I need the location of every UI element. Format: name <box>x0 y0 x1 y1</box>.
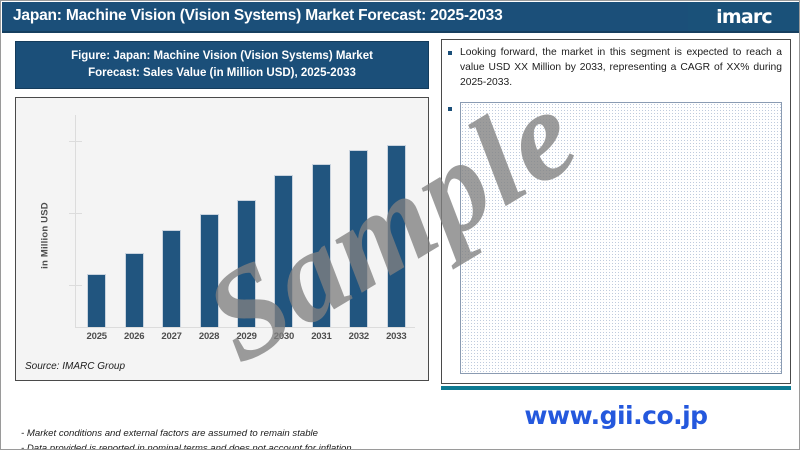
chart-card: in Million USD 2025202620272028202920302… <box>15 97 429 381</box>
y-axis-label: in Million USD <box>40 181 51 291</box>
figure-title-box: Figure: Japan: Machine Vision (Vision Sy… <box>15 41 429 89</box>
imarc-logo: imarc <box>688 2 800 31</box>
imarc-logo-text: imarc <box>716 6 772 28</box>
x-axis-label: 2028 <box>190 331 227 342</box>
bar-slot <box>190 115 227 327</box>
bar-slot <box>303 115 340 327</box>
bar <box>387 145 406 327</box>
bar <box>200 214 219 327</box>
page-title: Japan: Machine Vision (Vision Systems) M… <box>13 7 503 25</box>
bar <box>349 150 368 327</box>
figure-title: Figure: Japan: Machine Vision (Vision Sy… <box>61 48 383 81</box>
bar <box>162 230 181 327</box>
assumption-note: - Market conditions and external factors… <box>21 427 441 442</box>
bar-slot <box>78 115 115 327</box>
bar <box>125 253 144 327</box>
x-axis-label: 2033 <box>378 331 415 342</box>
bullet-square-icon <box>448 51 452 55</box>
assumption-notes: - Market conditions and external factors… <box>21 427 441 450</box>
chart-source: Source: IMARC Group <box>25 361 125 372</box>
chart-panel: Figure: Japan: Machine Vision (Vision Sy… <box>11 39 436 384</box>
insight-bullet-1: Looking forward, the market in this segm… <box>448 46 786 91</box>
x-axis-label: 2030 <box>265 331 302 342</box>
x-axis-spine <box>75 327 415 328</box>
bar <box>237 200 256 327</box>
bullet-square-icon <box>448 107 452 111</box>
insight-bullet-1-text: Looking forward, the market in this segm… <box>460 46 782 91</box>
slide-page: Japan: Machine Vision (Vision Systems) M… <box>0 0 800 450</box>
x-axis-label: 2032 <box>340 331 377 342</box>
page-header: Japan: Machine Vision (Vision Systems) M… <box>2 2 800 33</box>
assumption-note: - Data provided is reported in nominal t… <box>21 442 441 450</box>
bar-slot <box>153 115 190 327</box>
footer-divider <box>441 386 791 390</box>
bar-chart: in Million USD 2025202620272028202920302… <box>16 98 428 343</box>
bar-slot <box>265 115 302 327</box>
bar-slot <box>228 115 265 327</box>
x-axis-labels: 202520262027202820292030203120322033 <box>78 331 415 347</box>
y-axis-spine <box>75 115 76 327</box>
x-axis-label: 2027 <box>153 331 190 342</box>
bar-slot <box>378 115 415 327</box>
site-url: www.gii.co.jp <box>441 401 791 430</box>
insight-panel: Looking forward, the market in this segm… <box>441 39 791 384</box>
content-placeholder-box <box>460 102 782 374</box>
x-axis-label: 2025 <box>78 331 115 342</box>
bar <box>312 164 331 327</box>
insight-bullet-2 <box>448 102 786 374</box>
x-axis-label: 2031 <box>303 331 340 342</box>
bar-slot <box>115 115 152 327</box>
x-axis-label: 2029 <box>228 331 265 342</box>
bar-series <box>78 115 415 327</box>
bar <box>274 175 293 327</box>
bar <box>87 274 106 327</box>
x-axis-label: 2026 <box>115 331 152 342</box>
bar-slot <box>340 115 377 327</box>
